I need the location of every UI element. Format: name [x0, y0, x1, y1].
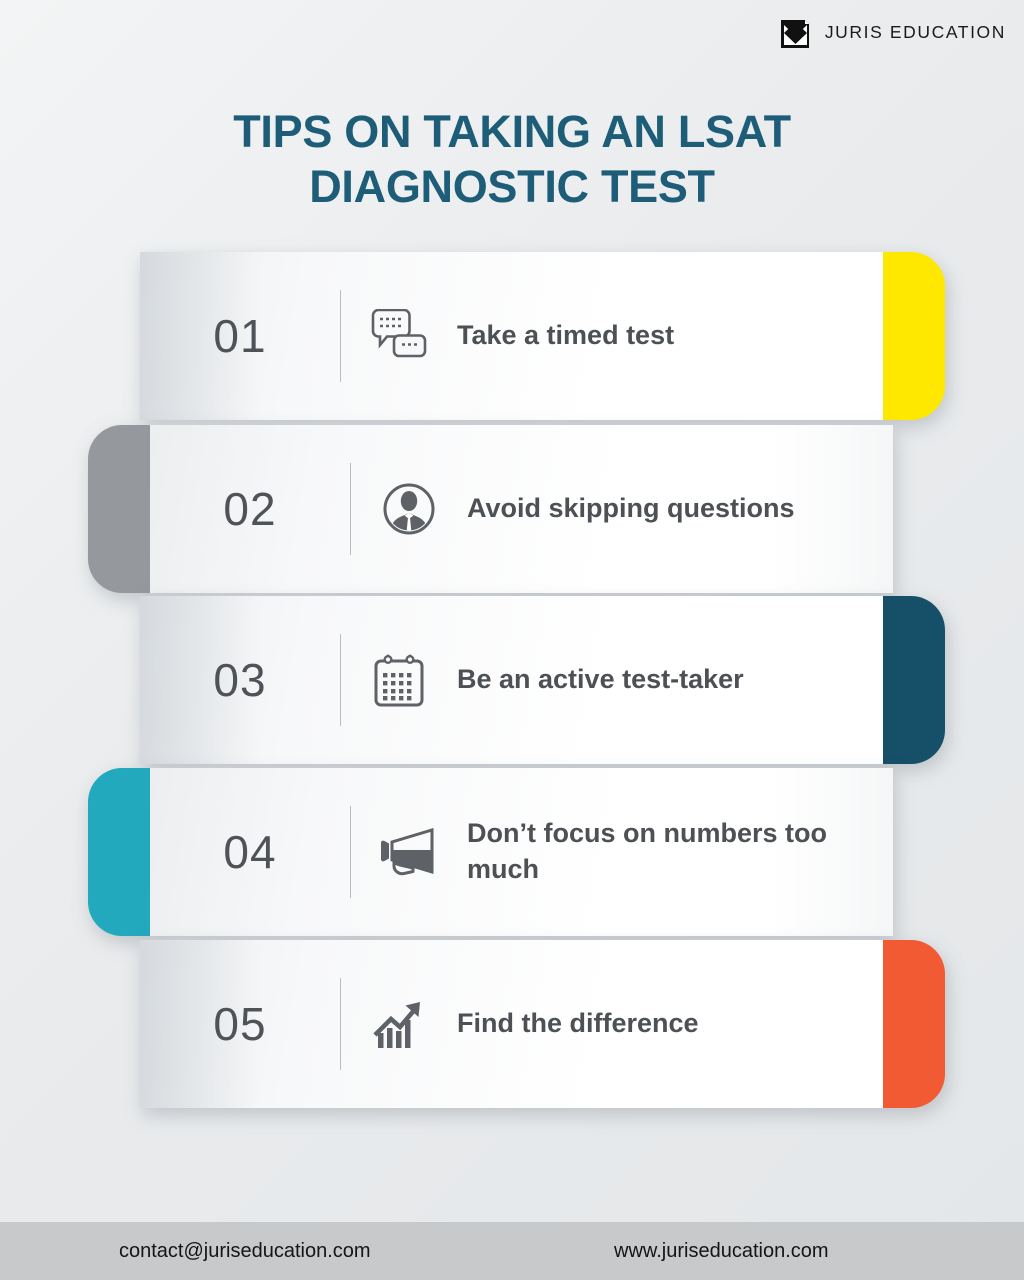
- step-number-03: 03: [140, 653, 340, 707]
- chat-bubbles-icon: [341, 309, 457, 363]
- step-number-04: 04: [150, 825, 350, 879]
- step-row-05[interactable]: 05 Find the difference: [140, 940, 945, 1108]
- step-number-02: 02: [150, 482, 350, 536]
- step-panel-03: 03 Be: [140, 596, 883, 764]
- step-row-01[interactable]: 01 Take a timed test: [140, 252, 945, 420]
- steps-list: 01 Take a timed test: [0, 252, 1024, 1122]
- brand-name: JURIS EDUCATION: [825, 22, 1006, 43]
- step-row-04[interactable]: 04 Don’t focus on numbers too much: [88, 768, 893, 936]
- step-label-01: Take a timed test: [457, 318, 698, 354]
- step-label-02: Avoid skipping questions: [467, 491, 819, 527]
- footer-email[interactable]: contact@juriseducation.com: [119, 1240, 371, 1263]
- step-row-02[interactable]: 02 Av: [88, 425, 893, 593]
- megaphone-icon: [351, 828, 467, 876]
- step-number-01: 01: [140, 309, 340, 363]
- step-panel-01: 01 Take a timed test: [140, 252, 883, 420]
- step-panel-04: 04 Don’t focus on numbers too much: [150, 768, 893, 936]
- footer-website[interactable]: www.juriseducation.com: [614, 1240, 829, 1263]
- step-cap-03: [883, 596, 945, 764]
- juris-envelope-logo-icon: [781, 16, 813, 48]
- step-row-03[interactable]: 03 Be: [140, 596, 945, 764]
- footer-bar: contact@juriseducation.com www.juriseduc…: [0, 1222, 1024, 1280]
- step-panel-02: 02 Av: [150, 425, 893, 593]
- step-label-03: Be an active test-taker: [457, 662, 768, 698]
- step-cap-05: [883, 940, 945, 1108]
- brand-logo: JURIS EDUCATION: [781, 16, 1006, 48]
- step-label-05: Find the difference: [457, 1006, 723, 1042]
- infographic-page: JURIS EDUCATION TIPS ON TAKING AN LSAT D…: [0, 0, 1024, 1280]
- step-cap-02: [88, 425, 150, 593]
- calendar-icon: [341, 652, 457, 708]
- step-cap-04: [88, 768, 150, 936]
- step-panel-05: 05 Find the difference: [140, 940, 883, 1108]
- step-cap-01: [883, 252, 945, 420]
- growth-chart-icon: [341, 997, 457, 1051]
- step-number-05: 05: [140, 997, 340, 1051]
- step-label-04: Don’t focus on numbers too much: [467, 816, 893, 888]
- page-title: TIPS ON TAKING AN LSAT DIAGNOSTIC TEST: [0, 104, 1024, 215]
- person-in-suit-icon: [351, 483, 467, 535]
